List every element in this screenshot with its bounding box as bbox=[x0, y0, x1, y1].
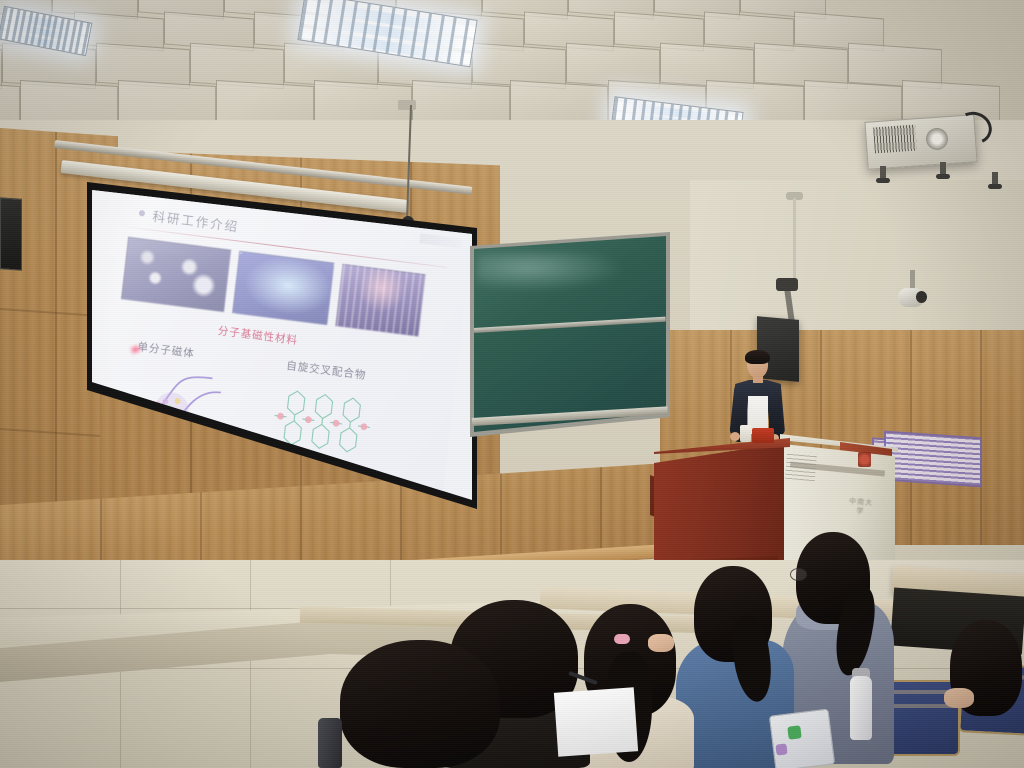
console-university-name: 中南大学 bbox=[844, 497, 877, 533]
cord-bracket bbox=[398, 100, 416, 110]
student-hair bbox=[340, 640, 500, 768]
phone-app-icon[interactable] bbox=[775, 743, 787, 755]
slide-page-number: 2 bbox=[420, 505, 425, 510]
projector-mount-foot bbox=[936, 174, 950, 179]
cup-on-lectern[interactable] bbox=[740, 425, 751, 442]
student-front-left bbox=[330, 640, 510, 768]
photo-strip bbox=[121, 237, 426, 337]
smartphone[interactable] bbox=[769, 709, 835, 768]
phone-app-icon[interactable] bbox=[787, 725, 801, 739]
presenter-hand-left bbox=[730, 432, 740, 441]
wall-control-panel[interactable] bbox=[0, 197, 22, 271]
title-bullet-icon bbox=[139, 210, 146, 217]
pink-hair-tie bbox=[614, 634, 630, 644]
magnet-components-photo bbox=[121, 237, 231, 313]
wall-air-vent bbox=[884, 431, 982, 488]
university-watermark-icon bbox=[419, 233, 462, 248]
citation-left-line2: Nature, 1996, 140 bbox=[131, 459, 204, 477]
citation-left: Nature, 1993, 141 Nature, 1996, 140 bbox=[118, 447, 220, 480]
blackboard bbox=[470, 232, 670, 437]
circuit-chip-photo bbox=[232, 251, 334, 326]
classroom-presentation-scene: 科研工作介绍 分子基磁性材料 单分子磁体 自旋交叉配合物 bbox=[0, 0, 1024, 768]
blackboard-glare bbox=[476, 252, 626, 292]
speaker-head bbox=[776, 278, 798, 291]
console-vent-grill bbox=[785, 451, 817, 482]
molecular-network-icon bbox=[261, 380, 390, 479]
water-bottle-white[interactable] bbox=[850, 676, 872, 740]
water-bottle-dark[interactable] bbox=[318, 718, 342, 768]
slide-column-label-left: 单分子磁体 bbox=[137, 339, 196, 361]
coordination-network-figure bbox=[261, 380, 390, 479]
projector-mount-foot bbox=[876, 178, 890, 183]
slide-column-label-right: 自旋交叉配合物 bbox=[286, 358, 368, 383]
student-hand bbox=[648, 634, 674, 652]
blackboard-surface[interactable] bbox=[470, 232, 670, 437]
notebook-paper[interactable] bbox=[554, 687, 638, 756]
projection-screen[interactable]: 科研工作介绍 分子基磁性材料 单分子磁体 自旋交叉配合物 bbox=[78, 170, 478, 510]
presenter-hair bbox=[745, 350, 770, 364]
data-storage-photo bbox=[335, 264, 426, 337]
screen-surface: 科研工作介绍 分子基磁性材料 单分子磁体 自旋交叉配合物 bbox=[78, 170, 478, 510]
citation-left-line1: Nature, 1993, 141 bbox=[133, 449, 206, 467]
red-box-on-lectern[interactable] bbox=[752, 428, 774, 443]
camera-lens-icon bbox=[916, 291, 927, 303]
student-hand bbox=[944, 688, 974, 708]
speaker-mount-rod bbox=[793, 198, 796, 288]
glasses-icon bbox=[790, 568, 807, 581]
projector-mount-foot bbox=[988, 184, 1002, 189]
slide-section-heading: 分子基磁性材料 bbox=[217, 323, 299, 348]
university-emblem-icon bbox=[858, 452, 871, 467]
projector-vent-grill bbox=[873, 125, 917, 154]
